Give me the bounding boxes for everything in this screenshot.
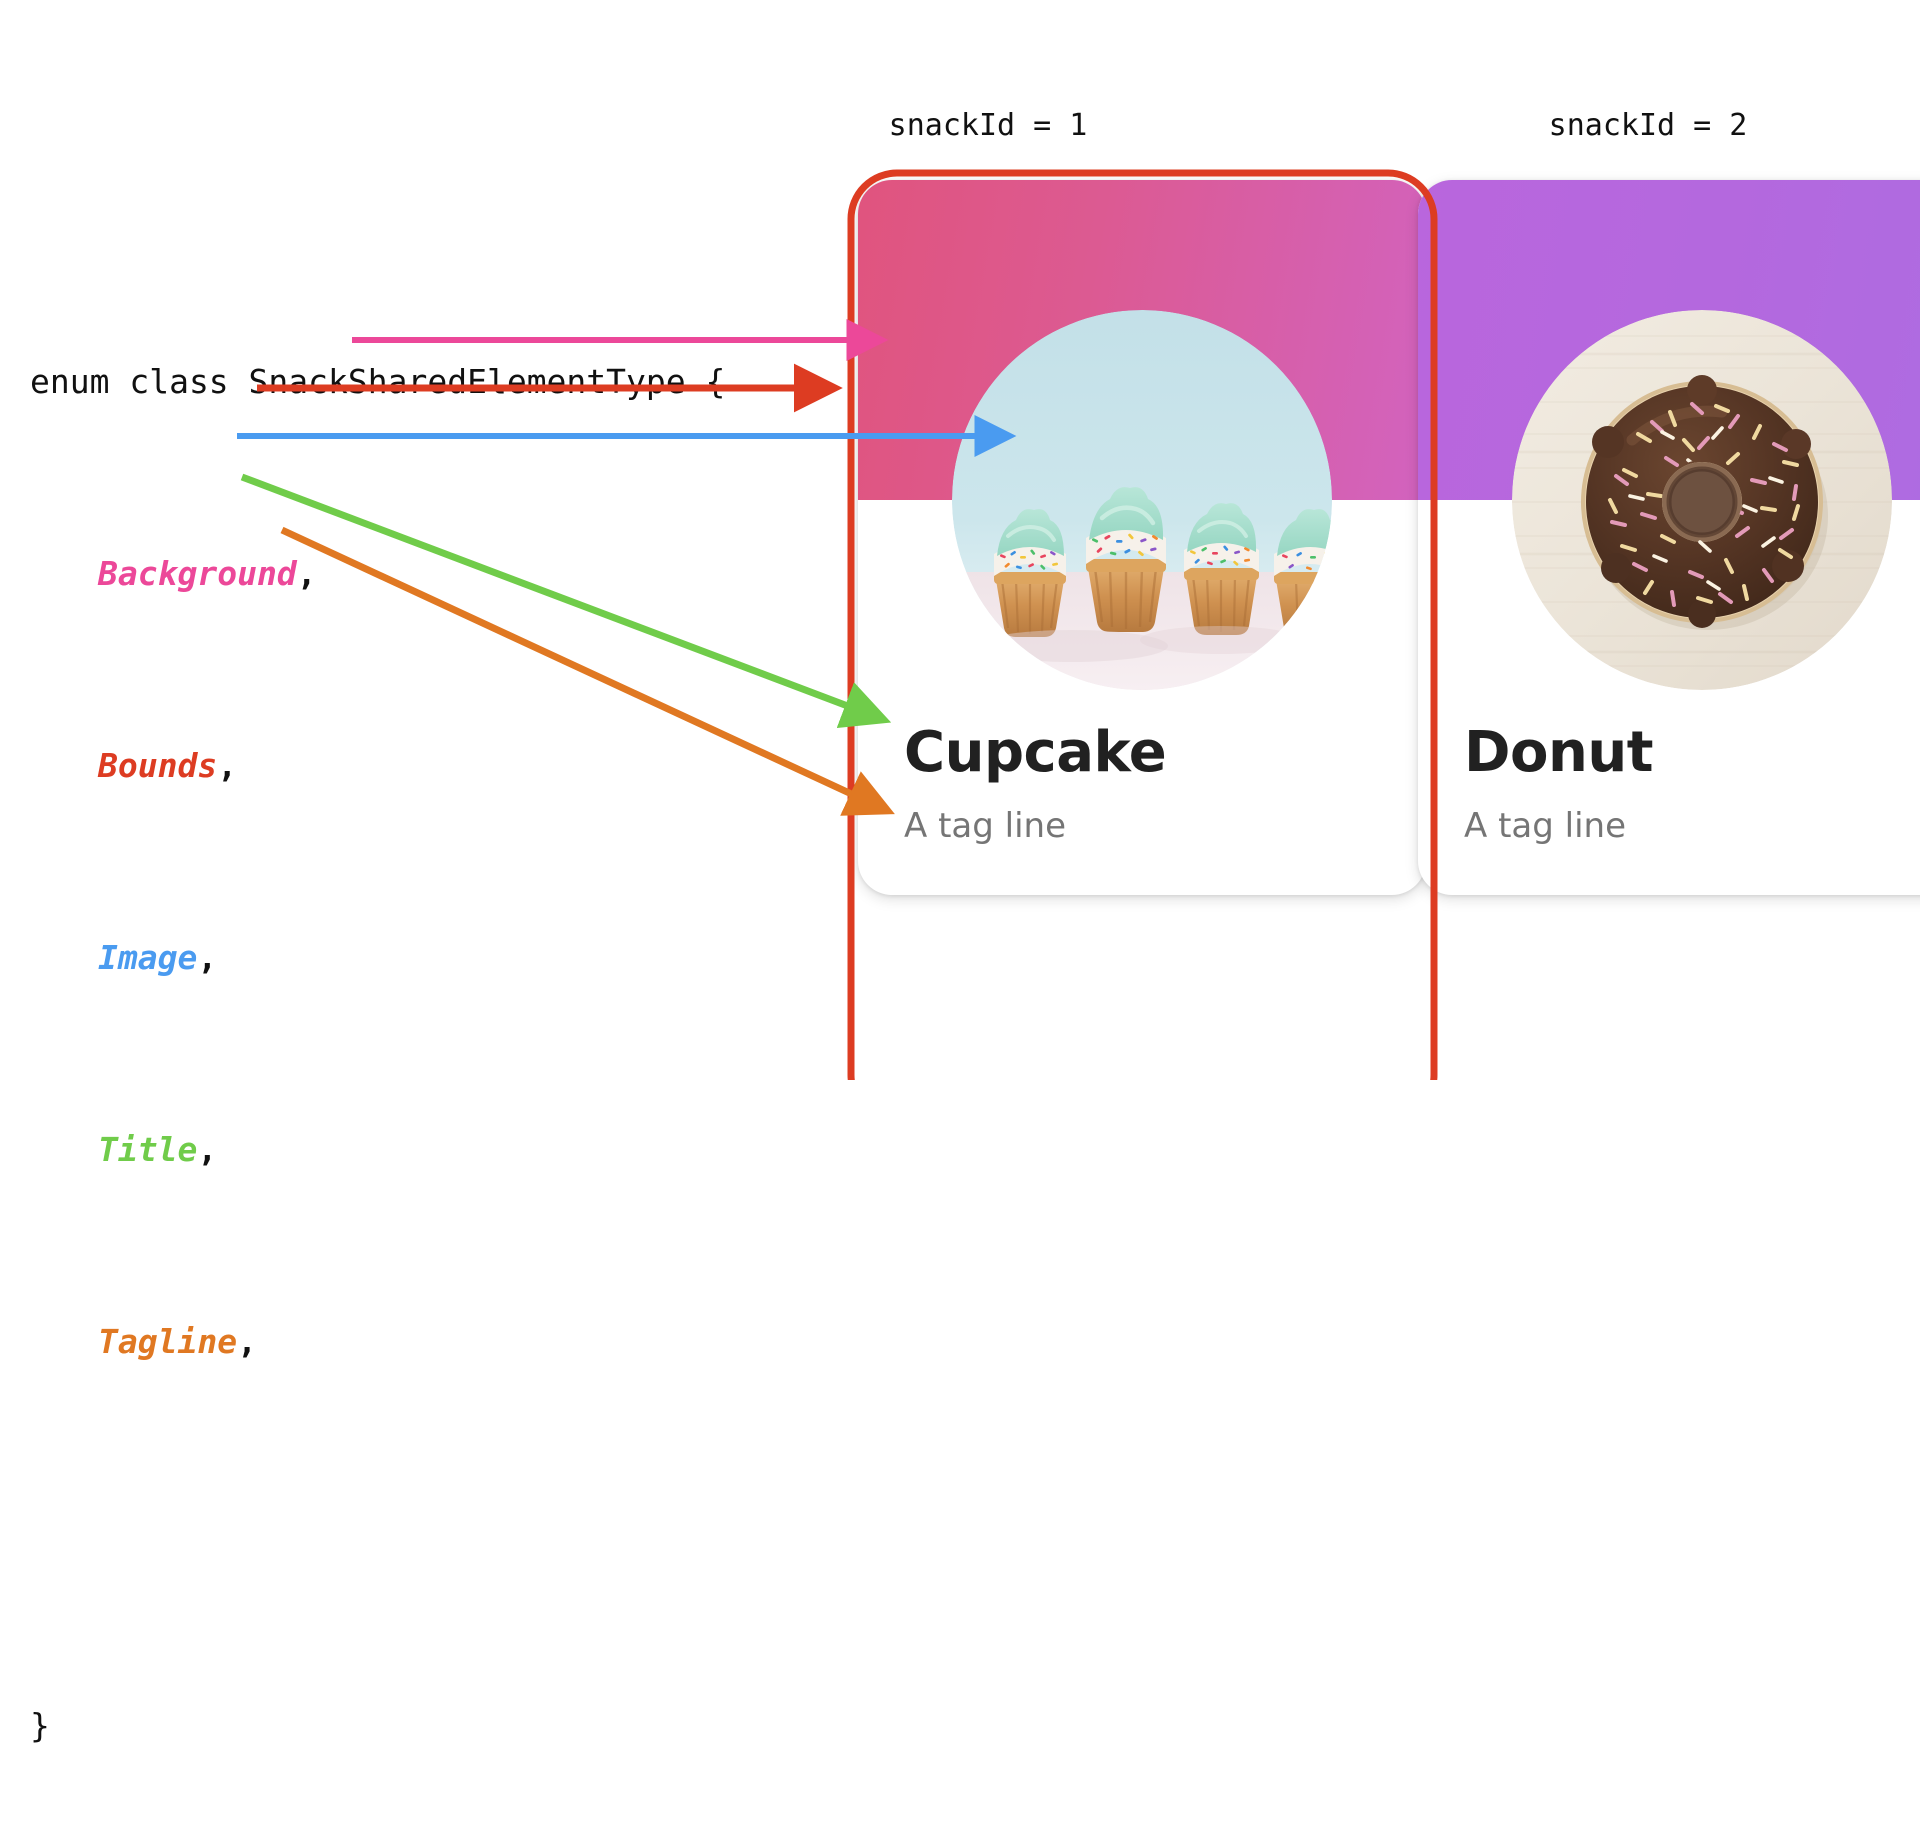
code-line-tagline: Tagline, xyxy=(30,1318,725,1366)
code-line-title: Title, xyxy=(30,1126,725,1174)
column-header-snack-1: snackId = 1 xyxy=(889,108,1088,143)
diagram-canvas: enum class SnackSharedElementType { Back… xyxy=(0,0,1920,1080)
code-line-blank xyxy=(30,1510,725,1558)
enum-entry-tagline: Tagline xyxy=(98,1322,237,1361)
code-comma: , xyxy=(197,938,217,977)
enum-entry-title: Title xyxy=(98,1130,197,1169)
code-line-image: Image, xyxy=(30,934,725,982)
code-line-background: Background, xyxy=(30,550,725,598)
enum-entry-bounds: Bounds xyxy=(98,746,217,785)
code-line-declaration: enum class SnackSharedElementType { xyxy=(30,358,725,406)
code-snippet: enum class SnackSharedElementType { Back… xyxy=(30,262,725,1846)
snack-card-cupcake[interactable]: Cupcake A tag line xyxy=(858,180,1426,895)
enum-entry-image: Image xyxy=(98,938,197,977)
card-tagline-donut: A tag line xyxy=(1464,806,1626,846)
code-close-brace: } xyxy=(30,1706,50,1745)
code-comma: , xyxy=(197,1130,217,1169)
enum-entry-background: Background xyxy=(98,554,297,593)
code-comma: , xyxy=(237,1322,257,1361)
code-line-close: } xyxy=(30,1702,725,1750)
card-title-donut: Donut xyxy=(1464,720,1653,785)
code-line-bounds: Bounds, xyxy=(30,742,725,790)
code-declaration-text: enum class SnackSharedElementType { xyxy=(30,362,725,401)
card-tagline-cupcake: A tag line xyxy=(904,806,1066,846)
code-comma: , xyxy=(217,746,237,785)
code-comma: , xyxy=(297,554,317,593)
donut-photo xyxy=(1512,310,1892,690)
column-header-snack-2: snackId = 2 xyxy=(1549,108,1748,143)
cupcakes-photo xyxy=(952,310,1332,690)
card-title-cupcake: Cupcake xyxy=(904,720,1166,785)
snack-card-donut[interactable]: Donut A tag line xyxy=(1418,180,1920,895)
